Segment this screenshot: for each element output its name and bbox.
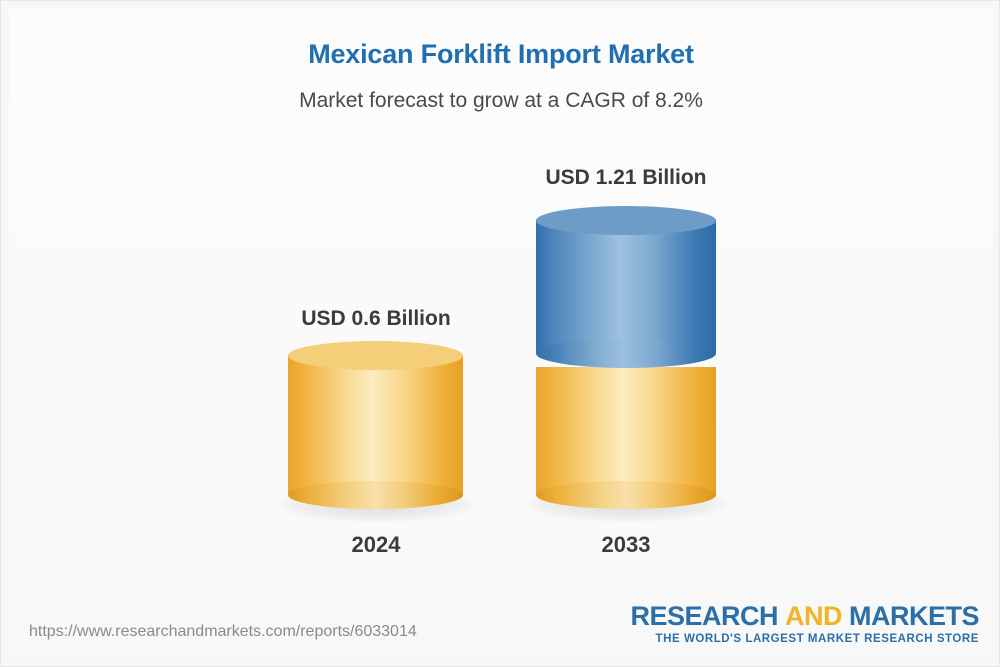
chart-title: Mexican Forklift Import Market <box>1 39 1000 70</box>
source-url[interactable]: https://www.researchandmarkets.com/repor… <box>29 623 417 641</box>
bar-2024-body <box>288 355 463 495</box>
logo-and-text: AND <box>785 601 842 631</box>
logo-research-text: RESEARCH <box>630 601 778 631</box>
value-label-2024: USD 0.6 Billion <box>206 307 546 331</box>
chart-subtitle: Market forecast to grow at a CAGR of 8.2… <box>1 89 1000 113</box>
bar-2033-upper-body <box>536 220 716 353</box>
bar-2033-base <box>536 481 716 509</box>
logo-markets-text: MARKETS <box>849 601 979 631</box>
bar-2024-base <box>288 481 463 509</box>
logo-wordmark: RESEARCHANDMARKETS <box>630 603 979 630</box>
category-label-2024: 2024 <box>276 532 476 558</box>
bar-2033-cap <box>536 206 716 235</box>
bar-2033-segment-divider <box>536 339 716 368</box>
logo-tagline: THE WORLD'S LARGEST MARKET RESEARCH STOR… <box>630 634 979 646</box>
value-label-2033: USD 1.21 Billion <box>456 166 796 190</box>
category-label-2033: 2033 <box>526 532 726 558</box>
chart-canvas: Mexican Forklift Import Market Market fo… <box>0 0 1000 667</box>
research-and-markets-logo: RESEARCHANDMARKETS THE WORLD'S LARGEST M… <box>630 603 979 646</box>
bar-2024-cap <box>288 341 463 370</box>
bar-2033-lower-body <box>536 367 716 495</box>
